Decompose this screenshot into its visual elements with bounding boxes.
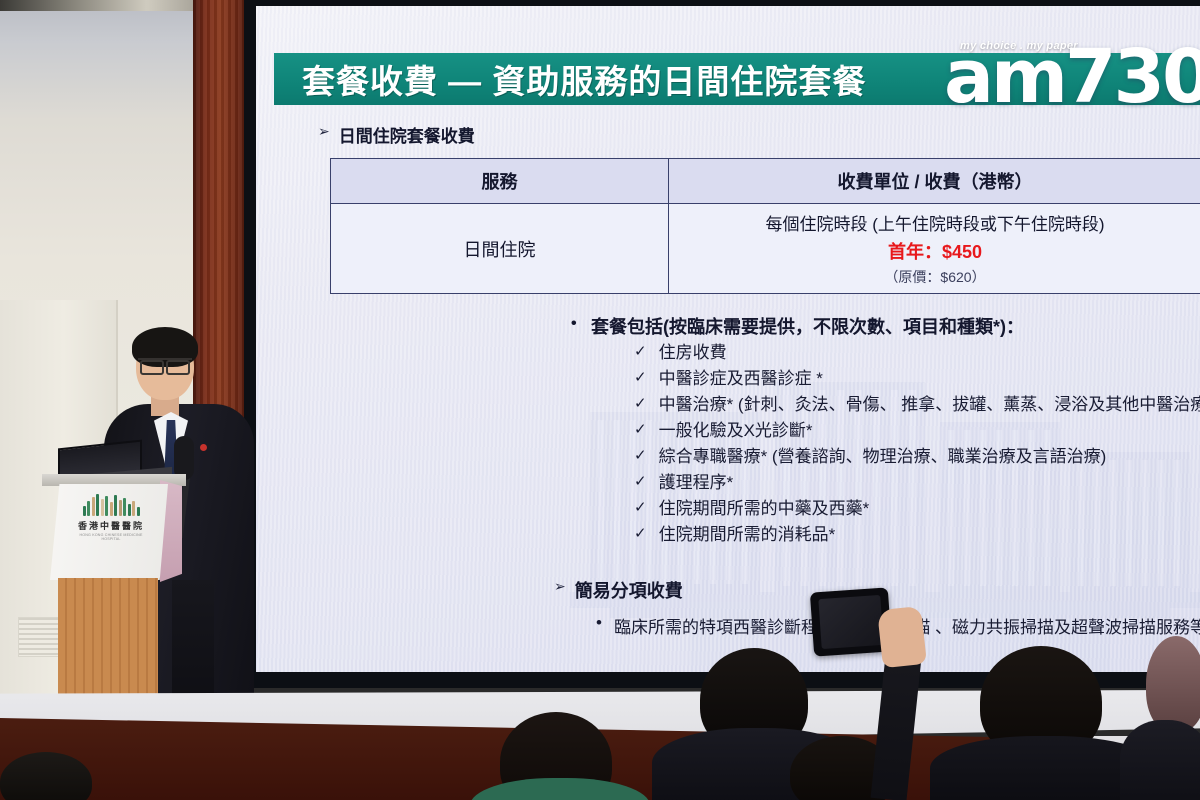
- audience-person-5-body: [1120, 720, 1200, 800]
- fee-table-body: 日間住院 每個住院時段 (上午住院時段或下午住院時段) 首年：$450 （原價：…: [331, 204, 1200, 294]
- table-row: 日間住院 每個住院時段 (上午住院時段或下午住院時段) 首年：$450 （原價：…: [331, 204, 1200, 294]
- dot-bullet-icon: •: [571, 315, 577, 333]
- package-item-list: ✓ 住房收費 ✓ 中醫診症及西醫診症 * ✓ 中醫治療* (針刺、灸法、骨傷、 …: [634, 344, 1200, 552]
- check-icon: ✓: [634, 448, 647, 463]
- logo-bars-icon: [74, 494, 148, 516]
- list-item: ✓ 中醫診症及西醫診症 *: [634, 370, 1200, 387]
- list-item: ✓ 住房收費: [634, 344, 1200, 361]
- photo-scene: 套餐收費 — 資助服務的日間住院套餐 ➢ 日間住院套餐收費 服務 收費單位 / …: [0, 0, 1200, 800]
- list-item: ✓ 住院期間所需的中藥及西藥*: [634, 500, 1200, 517]
- check-icon: ✓: [634, 344, 647, 359]
- fee-unit: 每個住院時段 (上午住院時段或下午住院時段): [673, 210, 1197, 235]
- table-header-row: 服務 收費單位 / 收費（港幣）: [331, 159, 1200, 204]
- col-header-service: 服務: [331, 159, 669, 204]
- slide-body: ➢ 日間住院套餐收費 服務 收費單位 / 收費（港幣） 日間住院: [256, 6, 1200, 672]
- cell-service: 日間住院: [331, 204, 669, 294]
- service-name: 日間住院: [335, 236, 664, 262]
- hospital-logo-zh: 香港中醫醫院: [74, 519, 148, 532]
- ceiling-strip: [0, 0, 196, 11]
- check-icon: ✓: [634, 474, 647, 489]
- slide-heading-2: ➢ 簡易分項收費: [554, 577, 683, 603]
- list-item: ✓ 中醫治療* (針刺、灸法、骨傷、 推拿、拔罐、薰蒸、浸浴及其他中醫治療): [634, 396, 1200, 413]
- cell-fee: 每個住院時段 (上午住院時段或下午住院時段) 首年：$450 （原價：$620）: [669, 204, 1200, 294]
- list-item: ✓ 住院期間所需的消耗品*: [634, 526, 1200, 543]
- hospital-logo-en: HONG KONG CHINESE MEDICINE HOSPITAL: [74, 533, 148, 541]
- fee-table: 服務 收費單位 / 收費（港幣） 日間住院 每個住院時段 (上午住院時段或下午住…: [330, 158, 1200, 294]
- check-icon: ✓: [634, 422, 647, 437]
- list-item: ✓ 綜合專職醫療* (營養諮詢、物理治療、職業治療及言語治療): [634, 448, 1200, 465]
- list-item-label: 中醫治療* (針刺、灸法、骨傷、 推拿、拔罐、薰蒸、浸浴及其他中醫治療): [659, 396, 1200, 413]
- list-item-label: 一般化驗及X光診斷*: [659, 422, 813, 439]
- list-item: ✓ 護理程序*: [634, 474, 1200, 491]
- check-icon: ✓: [634, 370, 647, 385]
- check-icon: ✓: [634, 396, 647, 411]
- glasses-icon: [138, 358, 192, 369]
- list-item-label: 住房收費: [659, 344, 727, 361]
- list-item: ✓ 一般化驗及X光診斷*: [634, 422, 1200, 439]
- slide-heading-2-label: 簡易分項收費: [575, 577, 683, 603]
- audience-person-5: [1146, 636, 1200, 732]
- list-item-label: 住院期間所需的消耗品*: [659, 526, 836, 543]
- lapel-pin: [200, 444, 207, 451]
- arrow-bullet-icon: ➢: [318, 122, 330, 141]
- slide-heading-1-label: 日間住院套餐收費: [339, 122, 475, 147]
- col-header-fee: 收費單位 / 收費（港幣）: [669, 159, 1200, 204]
- audience-hand: [877, 606, 927, 668]
- dot-bullet-icon: •: [596, 613, 602, 633]
- arrow-bullet-icon: ➢: [554, 577, 566, 596]
- list-item-label: 住院期間所需的中藥及西藥*: [659, 500, 870, 517]
- package-includes-label: 套餐包括(按臨床需要提供，不限次數、項目和種類*)：: [591, 317, 1024, 337]
- list-item-label: 綜合專職醫療* (營養諮詢、物理治療、職業治療及言語治療): [659, 448, 1107, 465]
- fee-promo: 首年：$450: [673, 238, 1197, 264]
- package-includes-heading: • 套餐包括(按臨床需要提供，不限次數、項目和種類*)：: [591, 313, 1024, 339]
- check-icon: ✓: [634, 526, 647, 541]
- fee-original: （原價：$620）: [673, 267, 1197, 287]
- list-item-label: 中醫診症及西醫診症 *: [659, 370, 823, 387]
- podium-column: [58, 578, 158, 706]
- fee-table-head: 服務 收費單位 / 收費（港幣）: [331, 159, 1200, 204]
- check-icon: ✓: [634, 500, 647, 515]
- hospital-logo: 香港中醫醫院 HONG KONG CHINESE MEDICINE HOSPIT…: [74, 494, 148, 541]
- presentation-slide: 套餐收費 — 資助服務的日間住院套餐 ➢ 日間住院套餐收費 服務 收費單位 / …: [256, 6, 1200, 672]
- slide-heading-1: ➢ 日間住院套餐收費: [318, 122, 475, 147]
- list-item-label: 護理程序*: [659, 474, 734, 491]
